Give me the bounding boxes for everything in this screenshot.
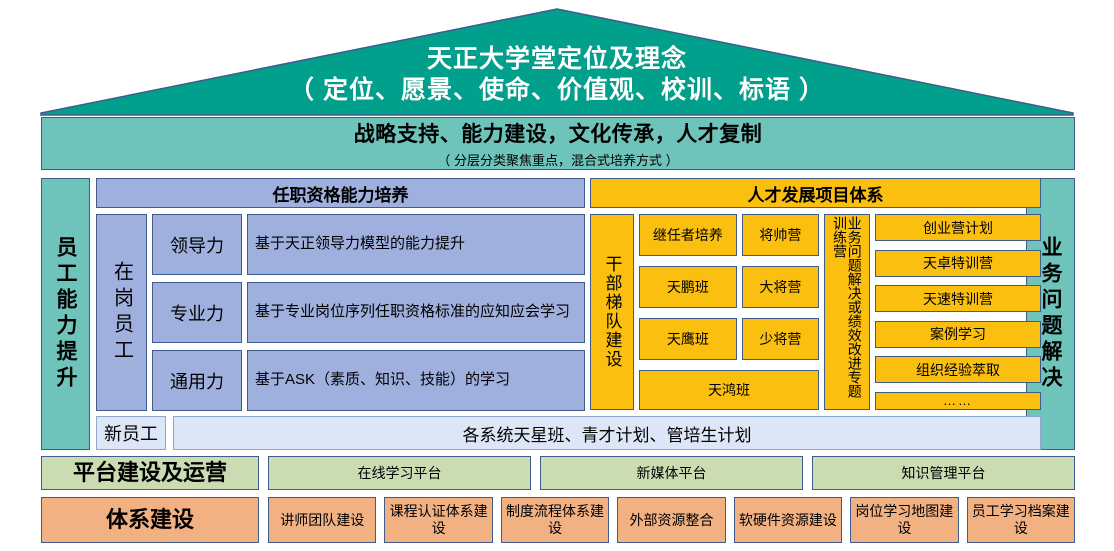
program-startup-camp[interactable]: 创业营计划 — [875, 214, 1041, 241]
talent-program-row: 天鹏班 大将营 — [639, 266, 819, 308]
capability-name-leadership[interactable]: 领导力 — [152, 214, 242, 275]
roof-title-line2: （ 定位、愿景、使命、价值观、校训、标语 ） — [40, 75, 1074, 106]
system-item-hardware-software[interactable]: 软硬件资源建设 — [734, 497, 842, 543]
capability-desc-leadership[interactable]: 基于天正领导力模型的能力提升 — [247, 214, 585, 275]
talent-box-general-camp[interactable]: 将帅营 — [742, 214, 819, 256]
program-tianzhuo-camp[interactable]: 天卓特训营 — [875, 250, 1041, 277]
talent-panel-title: 人才发展项目体系 — [590, 178, 1041, 208]
talent-program-list: 创业营计划 天卓特训营 天速特训营 案例学习 组织经验萃取 …… — [875, 214, 1041, 410]
roof-shape: 天正大学堂定位及理念 （ 定位、愿景、使命、价值观、校训、标语 ） — [40, 8, 1074, 116]
system-item-employee-records[interactable]: 员工学习档案建设 — [967, 497, 1075, 543]
talent-box-shaojiang-camp[interactable]: 少将营 — [742, 318, 819, 360]
system-row: 体系建设 讲师团队建设 课程认证体系建设 制度流程体系建设 外部资源整合 软硬件… — [41, 497, 1075, 543]
talent-box-tianpeng[interactable]: 天鹏班 — [639, 266, 737, 308]
platform-row: 平台建设及运营 在线学习平台 新媒体平台 知识管理平台 — [41, 456, 1075, 490]
capability-row: 专业力 基于专业岗位序列任职资格标准的应知应会学习 — [152, 282, 585, 343]
new-employee-label[interactable]: 新员工 — [96, 416, 166, 450]
strategy-band: 战略支持、能力建设，文化传承，人才复制 （ 分层分类聚焦重点，混合式培养方式 ） — [41, 117, 1075, 170]
program-case-study[interactable]: 案例学习 — [875, 321, 1041, 348]
talent-box-tianying[interactable]: 天鹰班 — [639, 318, 737, 360]
left-pillar-employee-capability[interactable]: 员工能力提升 — [41, 178, 90, 450]
talent-box-successor[interactable]: 继任者培养 — [639, 214, 737, 256]
system-lead-label[interactable]: 体系建设 — [41, 497, 259, 543]
capability-rows: 领导力 基于天正领导力模型的能力提升 专业力 基于专业岗位序列任职资格标准的应知… — [152, 214, 585, 411]
system-item-process-system[interactable]: 制度流程体系建设 — [501, 497, 609, 543]
strategy-band-line2: （ 分层分类聚焦重点，混合式培养方式 ） — [437, 150, 678, 169]
cadre-echelon-cell[interactable]: 干部梯队建设 — [590, 214, 634, 410]
main-body: 员工能力提升 业务问题解决 任职资格能力培养 在岗员工 领导力 基于天正领导力模… — [41, 178, 1075, 450]
system-item-course-certification[interactable]: 课程认证体系建设 — [384, 497, 492, 543]
right-pillar-label: 业务问题解决 — [1040, 236, 1061, 392]
roof-title-line1: 天正大学堂定位及理念 — [40, 44, 1074, 75]
talent-program-row: 继任者培养 将帅营 — [639, 214, 819, 256]
capability-row: 领导力 基于天正领导力模型的能力提升 — [152, 214, 585, 275]
system-item-trainer-team[interactable]: 讲师团队建设 — [268, 497, 376, 543]
system-item-learning-map[interactable]: 岗位学习地图建设 — [850, 497, 958, 543]
problem-training-camp-cell[interactable]: 业务问题解决或绩效改进专题训练营 — [824, 214, 870, 410]
cadre-echelon-label: 干部梯队建设 — [604, 255, 621, 369]
problem-training-camp-label: 业务问题解决或绩效改进专题训练营 — [832, 216, 861, 408]
capability-name-general[interactable]: 通用力 — [152, 350, 242, 411]
capability-grid: 在岗员工 领导力 基于天正领导力模型的能力提升 专业力 基于专业岗位序列任职资格… — [96, 214, 585, 411]
diagram-canvas: 天正大学堂定位及理念 （ 定位、愿景、使命、价值观、校训、标语 ） 战略支持、能… — [0, 0, 1114, 551]
platform-item-new-media[interactable]: 新媒体平台 — [540, 456, 803, 490]
talent-box-dajiang-camp[interactable]: 大将营 — [742, 266, 819, 308]
program-more-ellipsis[interactable]: …… — [875, 392, 1041, 410]
program-tiansu-camp[interactable]: 天速特训营 — [875, 285, 1041, 312]
capability-desc-general[interactable]: 基于ASK（素质、知识、技能）的学习 — [247, 350, 585, 411]
capability-row: 通用力 基于ASK（素质、知识、技能）的学习 — [152, 350, 585, 411]
talent-grid: 干部梯队建设 继任者培养 将帅营 天鹏班 大将营 天鹰班 少将营 — [590, 214, 1041, 410]
capability-panel-title: 任职资格能力培养 — [96, 178, 585, 208]
strategy-band-line1: 战略支持、能力建设，文化传承，人才复制 — [354, 118, 763, 148]
talent-box-tianhong[interactable]: 天鸿班 — [639, 370, 819, 410]
new-employee-desc[interactable]: 各系统天星班、青才计划、管培生计划 — [173, 416, 1041, 450]
system-item-external-resources[interactable]: 外部资源整合 — [617, 497, 725, 543]
left-pillar-label: 员工能力提升 — [55, 236, 76, 392]
capability-desc-professional[interactable]: 基于专业岗位序列任职资格标准的应知应会学习 — [247, 282, 585, 343]
platform-item-online-learning[interactable]: 在线学习平台 — [268, 456, 531, 490]
platform-item-knowledge-management[interactable]: 知识管理平台 — [812, 456, 1075, 490]
onjob-employee-cell[interactable]: 在岗员工 — [96, 214, 147, 411]
new-employee-row: 新员工 各系统天星班、青才计划、管培生计划 — [96, 416, 1041, 450]
program-experience-extraction[interactable]: 组织经验萃取 — [875, 356, 1041, 383]
talent-program-grid: 继任者培养 将帅营 天鹏班 大将营 天鹰班 少将营 天鸿班 — [639, 214, 819, 410]
platform-lead-label[interactable]: 平台建设及运营 — [41, 456, 259, 490]
capability-panel: 任职资格能力培养 在岗员工 领导力 基于天正领导力模型的能力提升 专业力 基于专… — [96, 178, 585, 450]
roof-title: 天正大学堂定位及理念 （ 定位、愿景、使命、价值观、校训、标语 ） — [40, 44, 1074, 105]
onjob-employee-label: 在岗员工 — [112, 261, 132, 365]
talent-program-row: 天鹰班 少将营 — [639, 318, 819, 360]
talent-panel: 人才发展项目体系 干部梯队建设 继任者培养 将帅营 天鹏班 大将营 天鹰班 — [590, 178, 1041, 410]
capability-name-professional[interactable]: 专业力 — [152, 282, 242, 343]
